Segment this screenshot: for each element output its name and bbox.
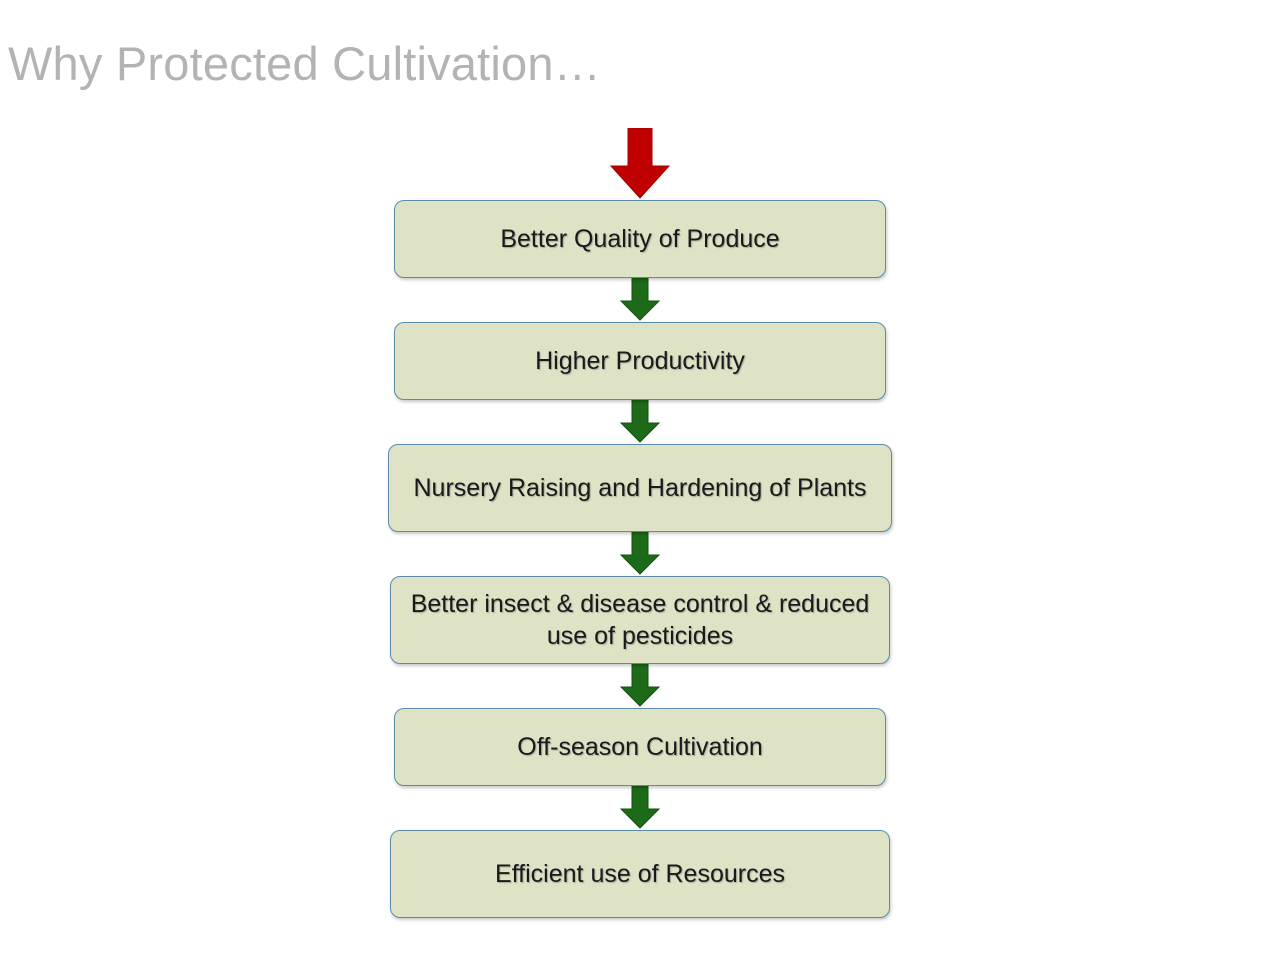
green-down-arrow-icon [619,400,661,444]
flow-step-1-label: Better Quality of Produce [500,223,779,255]
flow-step-4-label: Better insect & disease control & reduce… [407,588,873,652]
page-title: Why Protected Cultivation… [8,36,601,91]
red-down-arrow-icon [609,128,671,200]
flow-step-5-label: Off-season Cultivation [517,731,763,763]
green-arrow-container-3 [0,532,1280,576]
flow-step-2-label: Higher Productivity [535,345,745,377]
flow-step-6[interactable]: Efficient use of Resources [390,830,890,918]
flow-step-3[interactable]: Nursery Raising and Hardening of Plants [388,444,892,532]
flow-step-1[interactable]: Better Quality of Produce [394,200,886,278]
green-down-arrow-icon [619,532,661,576]
green-down-arrow-icon [619,664,661,708]
green-down-arrow-icon [619,786,661,830]
flow-step-3-label: Nursery Raising and Hardening of Plants [413,472,866,504]
flow-step-5[interactable]: Off-season Cultivation [394,708,886,786]
green-arrow-container-5 [0,786,1280,830]
flow-step-2[interactable]: Higher Productivity [394,322,886,400]
green-arrow-container-4 [0,664,1280,708]
flow-step-4[interactable]: Better insect & disease control & reduce… [390,576,890,664]
red-arrow-container [0,128,1280,200]
flow-step-6-label: Efficient use of Resources [495,858,785,890]
flow-diagram: Better Quality of Produce Higher Product… [0,128,1280,918]
green-down-arrow-icon [619,278,661,322]
green-arrow-container-1 [0,278,1280,322]
green-arrow-container-2 [0,400,1280,444]
